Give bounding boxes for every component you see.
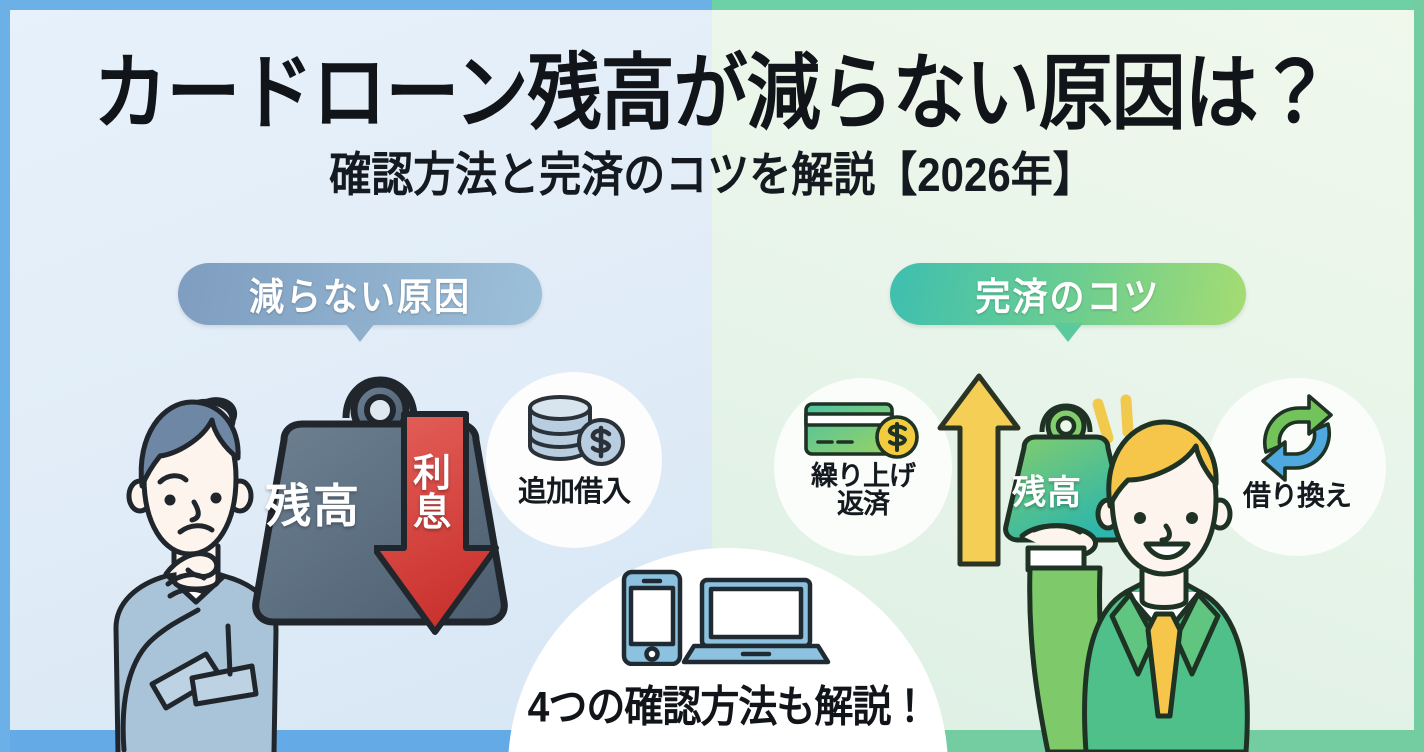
smiling-businessman-illustration bbox=[1000, 410, 1330, 752]
page-subtitle: 確認方法と完済のコツを解説【2026年】 bbox=[0, 152, 1424, 199]
badge-left-label: 減らない原因 bbox=[249, 266, 471, 321]
smartphone-icon bbox=[624, 572, 680, 664]
badge-reasons-not-decreasing: 減らない原因 bbox=[178, 263, 542, 325]
coin-stack-dollar-icon bbox=[516, 394, 632, 466]
devices-icon-group bbox=[618, 568, 832, 666]
circle-label-early-repayment: 繰り上げ 返済 bbox=[774, 462, 952, 519]
interest-arrow-label: 利息 bbox=[404, 455, 460, 533]
badge-left-pointer bbox=[345, 323, 375, 342]
circle-early-repayment: 繰り上げ 返済 bbox=[774, 378, 952, 556]
circle-label-additional-borrowing: 追加借入 bbox=[486, 468, 662, 510]
balance-weight-label-left: 残高 bbox=[265, 470, 361, 536]
bottom-circle-label: 4つの確認方法も解説！ bbox=[508, 673, 948, 735]
infographic-canvas: カードローン残高が減らない原因は？ 確認方法と完済のコツを解説【2026年】 減… bbox=[0, 0, 1424, 752]
circle-additional-borrowing: 追加借入 bbox=[486, 372, 662, 548]
top-border-bar-right bbox=[712, 0, 1424, 10]
badge-right-pointer bbox=[1053, 323, 1083, 342]
badge-right-label: 完済のコツ bbox=[975, 266, 1160, 321]
laptop-icon bbox=[684, 580, 828, 662]
page-title: カードローン残高が減らない原因は？ bbox=[0, 52, 1424, 135]
top-border-bar-left bbox=[0, 0, 712, 10]
badge-repayment-tips: 完済のコツ bbox=[890, 263, 1246, 325]
credit-card-dollar-icon bbox=[800, 398, 926, 460]
